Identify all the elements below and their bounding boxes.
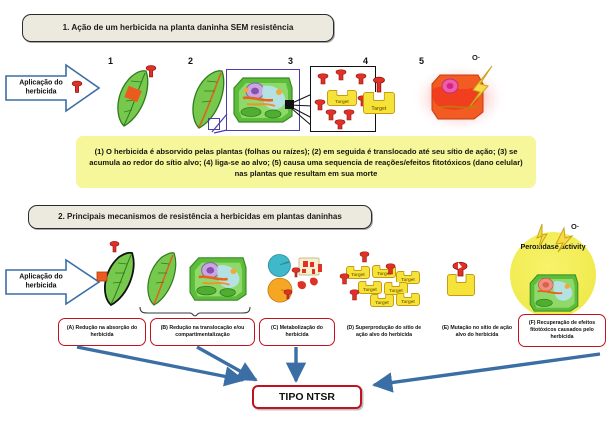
oxygen-radical-label-step5: O·: [472, 53, 480, 62]
step-number-4: 4: [363, 56, 368, 66]
arrow-a-to-ntsr: [77, 347, 243, 380]
mechanism-label-e: (E) Mutação no sítio de ação alvo do her…: [434, 318, 520, 346]
mechanism-label-c[interactable]: (C) Metabolização do herbicida: [259, 318, 335, 346]
section2-banner: 2. Principais mecanismos de resistência …: [28, 205, 372, 229]
application-arrow-2: Aplicação do herbicida: [4, 258, 102, 306]
damaged-cell-illustration: [410, 62, 508, 134]
step-number-1: 1: [108, 56, 113, 66]
herbicide-molecule-icon-step1: [144, 62, 158, 79]
section1-banner: 1. Ação de um herbicida na planta daninh…: [22, 14, 334, 42]
herbicide-bound-icon-step4: [371, 72, 387, 96]
section1-explanation-box: (1) O herbicida é absorvido pelas planta…: [76, 136, 536, 188]
cell-zoom-marker: [285, 100, 294, 109]
application-arrow-1-label: Aplicação do herbicida: [10, 79, 72, 98]
arrow-f-to-ntsr: [374, 354, 600, 385]
herbicide-mutation-icon-e: [450, 258, 470, 278]
leaf-icon-mechanism-b: [140, 250, 184, 308]
application-arrow-1: Aplicação do herbicida: [4, 62, 102, 114]
mechanism-label-f[interactable]: (F) Recuperação de efeitos fitotóxicos c…: [518, 314, 606, 347]
mechanism-label-a[interactable]: (A) Redução na absorção do herbicida: [58, 318, 146, 346]
ntsr-outcome-box: TIPO NTSR: [252, 385, 362, 409]
recovered-cell-illustration-f: [518, 270, 590, 316]
mechanism-label-b[interactable]: (B) Redução na translocação e/ou compart…: [150, 318, 255, 346]
diagram-canvas: 1. Ação de um herbicida na planta daninh…: [0, 0, 613, 428]
step-number-3: 3: [288, 56, 293, 66]
herbicide-cloud-d: [338, 252, 424, 312]
brace-mechanism-b: [138, 305, 252, 317]
leaf-zoom-marker: [208, 118, 220, 130]
application-arrow-2-label: Aplicação do herbicida: [10, 273, 72, 292]
oxygen-radical-label-f: O·: [571, 222, 579, 231]
plant-cell-illustration-b: [185, 252, 251, 306]
herbicide-molecule-icon-a: [108, 238, 121, 254]
metabolization-illustration-c: [272, 252, 328, 306]
herbicide-molecule-icon: [70, 78, 84, 94]
leaf-icon-mechanism-a: [96, 250, 142, 308]
step-number-2: 2: [188, 56, 193, 66]
